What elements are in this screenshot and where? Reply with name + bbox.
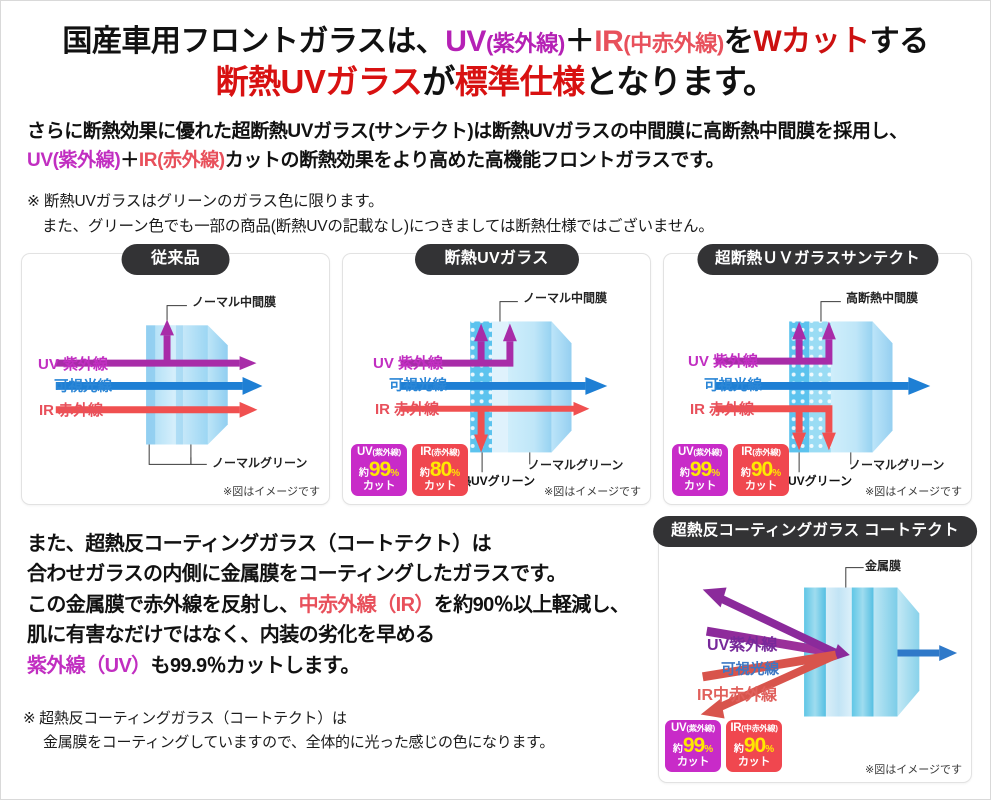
badge-ir-mid-coatect: 約90%: [728, 735, 780, 756]
intro-line2-tail: カットの断熱効果をより高めた高機能フロントガラスです。: [225, 150, 725, 171]
badge-uv-code-coatect: UV: [671, 722, 686, 734]
coatect-desc-ir-highlight: 中赤外線（IR）: [299, 594, 434, 616]
badge-ir-coatect: IR(中赤外線) 約90% カット: [726, 720, 782, 773]
image-note-suntect: ※図はイメージです: [865, 483, 962, 499]
card-title-suntect: 超断熱ＵＶガラスサンテクト: [697, 244, 938, 275]
badge-ir-danetsu: IR(赤外線) 約80% カット: [412, 444, 468, 497]
badge-uv-paren-danetsu: (紫外線): [372, 448, 401, 457]
intro-uv-code: UV: [27, 150, 53, 171]
headline-uv-paren: (紫外線): [486, 31, 565, 56]
intro-ir-code: IR: [139, 150, 157, 171]
label-interlayer-suntect: 高断熱中間膜: [846, 292, 918, 304]
label-ir-suntect: IR 赤外線: [690, 402, 754, 417]
label-ir-danetsu: IR 赤外線: [375, 402, 439, 417]
label-green-suntect: ノーマルグリーン: [849, 459, 944, 471]
badge-ir-yaku-danetsu: 約: [420, 468, 430, 479]
badge-ir-pct-suntect: %: [772, 468, 781, 479]
coatect-desc-line-5b: も99.9％カットします。: [151, 655, 360, 677]
badge-uv-num-suntect: 99: [690, 458, 711, 481]
intro-uv-paren: (紫外線): [53, 150, 121, 171]
badge-ir-suntect: IR(赤外線) 約90% カット: [733, 444, 789, 497]
badge-ir-code-coatect: IR: [730, 722, 741, 734]
comparison-cards: 従来品: [21, 253, 972, 505]
coatect-desc-uv-highlight: 紫外線（UV）: [27, 655, 151, 677]
badge-uv-pct-coatect: %: [704, 744, 713, 755]
badge-ir-top-coatect: IR(中赤外線): [728, 723, 780, 735]
badge-uv-cut-coatect: カット: [667, 757, 719, 768]
label-ir-coatect: IR中赤外線: [697, 688, 777, 704]
card-title-conventional: 従来品: [121, 244, 230, 275]
card-title-danetsu-uv: 断熱UVガラス: [414, 244, 578, 275]
badge-uv-mid-danetsu: 約99%: [353, 459, 405, 480]
image-note-coatect: ※図はイメージです: [865, 761, 962, 777]
intro-line-2: UV(紫外線)＋IR(赤外線)カットの断熱効果をより高めた高機能フロントガラスで…: [27, 147, 968, 176]
badge-ir-code-suntect: IR: [741, 446, 752, 458]
badge-uv-mid-coatect: 約99%: [667, 735, 719, 756]
infographic-page: 国産車用フロントガラスは、UV(紫外線)＋IR(中赤外線)をWカットする 断熱U…: [0, 0, 991, 800]
top-note: ※ 断熱UVガラスはグリーンのガラス色に限ります。 また、グリーン色でも一部の商…: [1, 175, 990, 239]
label-visible-suntect: 可視光線: [704, 379, 762, 394]
badge-uv-pct-danetsu: %: [390, 468, 399, 479]
badge-ir-code-danetsu: IR: [420, 446, 431, 458]
label-uv-coatect: UV紫外線: [707, 638, 777, 654]
card-suntect: 超断熱ＵＶガラスサンテクト: [663, 253, 972, 505]
label-uv-danetsu: UV 紫外線: [373, 356, 443, 371]
card-danetsu-uv: 断熱UVガラス: [342, 253, 651, 505]
headline-product-name: 断熱UVガラス: [216, 63, 423, 100]
badge-uv-paren-coatect: (紫外線): [686, 724, 715, 733]
badge-ir-pct-coatect: %: [765, 744, 774, 755]
badge-uv-top-suntect: UV(紫外線): [674, 447, 726, 459]
coatect-note-line-1: ※ 超熱反コーティングガラス（コートテクト）は: [23, 710, 347, 727]
label-interlayer-conventional: ノーマル中間膜: [192, 296, 276, 308]
badge-uv-mid-suntect: 約99%: [674, 459, 726, 480]
headline-text-lead: 国産車用フロントガラスは、: [62, 25, 445, 58]
badge-ir-paren-suntect: (赤外線): [752, 448, 781, 457]
coatect-desc-line-3: この金属膜で赤外線を反射し、中赤外線（IR）を約90％以上軽減し、: [27, 590, 647, 620]
label-visible-conventional: 可視光線: [54, 380, 112, 395]
badge-uv-yaku-coatect: 約: [673, 744, 683, 755]
badge-ir-mid-suntect: 約90%: [735, 459, 787, 480]
badges-coatect: UV(紫外線) 約99% カット IR(中赤外線) 約90% カット: [665, 720, 782, 773]
badge-uv-pct-suntect: %: [711, 468, 720, 479]
headline-particle-wo: を: [724, 25, 754, 58]
badge-uv-num-coatect: 99: [683, 734, 704, 757]
headline-wcut: Wカット: [753, 25, 869, 58]
badge-ir-yaku-suntect: 約: [741, 468, 751, 479]
label-visible-coatect: 可視光線: [721, 663, 779, 678]
badge-uv-danetsu: UV(紫外線) 約99% カット: [351, 444, 407, 497]
top-note-line-2: また、グリーン色でも一部の商品(断熱UVの記載なし)につきましては断熱仕様ではご…: [27, 214, 968, 239]
badge-ir-num-danetsu: 80: [430, 458, 451, 481]
headline-standard-spec: 標準仕様: [455, 63, 585, 100]
headline-line-2: 断熱UVガラスが標準仕様となります。: [11, 61, 980, 103]
badge-uv-cut-danetsu: カット: [353, 481, 405, 492]
headline-particle-ga: が: [422, 63, 455, 100]
badge-uv-cut-suntect: カット: [674, 481, 726, 492]
headline-suru: する: [870, 25, 929, 58]
badge-uv-paren-suntect: (紫外線): [693, 448, 722, 457]
headline-ir-paren: (中赤外線): [623, 31, 724, 56]
top-note-line-1: ※ 断熱UVガラスはグリーンのガラス色に限ります。: [27, 193, 383, 210]
headline-ir-code: IR: [594, 25, 623, 58]
label-interlayer-danetsu: ノーマル中間膜: [523, 292, 607, 304]
coatect-note-line-2: 金属膜をコーティングしていますので、全体的に光った感じの色になります。: [23, 731, 663, 755]
page-headline: 国産車用フロントガラスは、UV(紫外線)＋IR(中赤外線)をWカットする 断熱U…: [1, 1, 990, 108]
badge-uv-top-danetsu: UV(紫外線): [353, 447, 405, 459]
label-uv-conventional: UV 紫外線: [38, 357, 108, 372]
headline-uv-code: UV: [445, 25, 486, 58]
label-metal-film-coatect: 金属膜: [865, 560, 901, 572]
badges-suntect: UV(紫外線) 約99% カット IR(赤外線) 約90% カット: [672, 444, 789, 497]
badge-ir-paren-danetsu: (赤外線): [431, 448, 460, 457]
label-green-conventional: ノーマルグリーン: [212, 457, 307, 469]
badge-ir-num-coatect: 90: [744, 734, 765, 757]
badge-ir-mid-danetsu: 約80%: [414, 459, 466, 480]
badge-ir-num-suntect: 90: [751, 458, 772, 481]
image-note-danetsu: ※図はイメージです: [544, 483, 641, 499]
coatect-desc-line-3a: この金属膜で赤外線を反射し、: [27, 594, 299, 616]
badge-ir-cut-suntect: カット: [735, 481, 787, 492]
intro-plus: ＋: [120, 150, 139, 171]
coatect-note: ※ 超熱反コーティングガラス（コートテクト）は 金属膜をコーティングしていますの…: [23, 707, 663, 755]
badge-uv-code-danetsu: UV: [357, 446, 372, 458]
badge-uv-code-suntect: UV: [678, 446, 693, 458]
coatect-desc-line-4: 肌に有害なだけではなく、内装の劣化を早める: [27, 620, 647, 650]
badge-uv-yaku-suntect: 約: [680, 468, 690, 479]
badge-uv-suntect: UV(紫外線) 約99% カット: [672, 444, 728, 497]
intro-line-1: さらに断熱効果に優れた超断熱UVガラス(サンテクト)は断熱UVガラスの中間膜に高…: [27, 121, 908, 142]
card-coatect: 超熱反コーティングガラス コートテクト: [658, 525, 972, 783]
badge-ir-top-suntect: IR(赤外線): [735, 447, 787, 459]
coatect-desc-line-2: 合わせガラスの内側に金属膜をコーティングしたガラスです。: [27, 559, 647, 589]
intro-paragraph: さらに断熱効果に優れた超断熱UVガラス(サンテクト)は断熱UVガラスの中間膜に高…: [1, 108, 990, 176]
badge-uv-yaku-danetsu: 約: [359, 468, 369, 479]
badge-ir-cut-coatect: カット: [728, 757, 780, 768]
headline-line-1: 国産車用フロントガラスは、UV(紫外線)＋IR(中赤外線)をWカットする: [11, 23, 980, 61]
coatect-desc-line-1: また、超熱反コーティングガラス（コートテクト）は: [27, 529, 647, 559]
badge-ir-pct-danetsu: %: [451, 468, 460, 479]
image-note-conventional: ※図はイメージです: [223, 483, 320, 499]
label-visible-danetsu: 可視光線: [389, 379, 447, 394]
label-green-danetsu: ノーマルグリーン: [528, 459, 623, 471]
headline-plus: ＋: [565, 25, 595, 58]
card-conventional: 従来品: [21, 253, 330, 505]
badge-ir-paren-coatect: (中赤外線): [741, 724, 777, 733]
card-title-coatect: 超熱反コーティングガラス コートテクト: [653, 516, 977, 547]
badges-danetsu-uv: UV(紫外線) 約99% カット IR(赤外線) 約80% カット: [351, 444, 468, 497]
label-uv-suntect: UV 紫外線: [688, 354, 758, 369]
badge-ir-cut-danetsu: カット: [414, 481, 466, 492]
intro-ir-paren: (赤外線): [157, 150, 225, 171]
badge-ir-top-danetsu: IR(赤外線): [414, 447, 466, 459]
coatect-description: また、超熱反コーティングガラス（コートテクト）は 合わせガラスの内側に金属膜をコ…: [27, 529, 647, 681]
badge-ir-yaku-coatect: 約: [734, 744, 744, 755]
coatect-desc-line-5: 紫外線（UV）も99.9％カットします。: [27, 651, 647, 681]
label-ir-conventional: IR 赤外線: [39, 403, 103, 418]
headline-line2-tail: となります。: [585, 63, 776, 100]
coatect-desc-line-3b: を約90％以上軽減し、: [434, 594, 630, 616]
badge-uv-num-danetsu: 99: [369, 458, 390, 481]
badge-uv-coatect: UV(紫外線) 約99% カット: [665, 720, 721, 773]
leader-lines: [846, 568, 864, 588]
badge-uv-top-coatect: UV(紫外線): [667, 723, 719, 735]
